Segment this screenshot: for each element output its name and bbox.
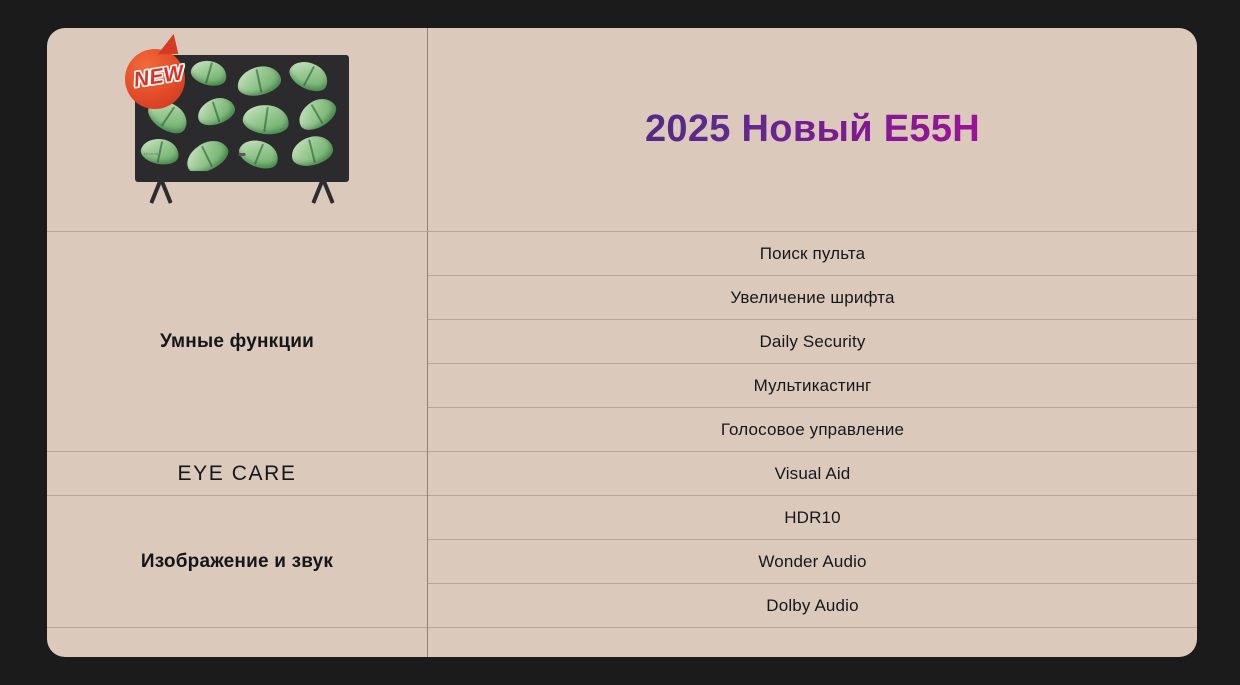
tv-illustration: Hisense NEW	[135, 55, 349, 205]
new-badge: NEW	[119, 41, 197, 115]
feature-column: Поиск пульта Увеличение шрифта Daily Sec…	[428, 232, 1197, 657]
leaf-decor-icon	[235, 62, 284, 99]
feature-row: Мультикастинг	[428, 364, 1197, 408]
feature-row: Daily Security	[428, 320, 1197, 364]
feature-label: Daily Security	[759, 332, 865, 352]
slide-canvas: Hisense NEW 2025 Новый E55H	[0, 0, 1240, 685]
feature-row: Увеличение шрифта	[428, 276, 1197, 320]
product-image-cell: Hisense NEW	[47, 28, 428, 231]
feature-label: Увеличение шрифта	[730, 288, 894, 308]
leaf-decor-icon	[285, 59, 333, 97]
spec-sheet-card: Hisense NEW 2025 Новый E55H	[47, 28, 1197, 657]
feature-label: Мультикастинг	[754, 376, 872, 396]
feature-label: Dolby Audio	[766, 596, 858, 616]
leaf-decor-icon	[241, 101, 291, 136]
tv-leg-icon	[321, 178, 334, 204]
feature-label: Visual Aid	[775, 464, 851, 484]
leaf-decor-icon	[288, 132, 336, 169]
category-column: Умные функции EYE CARE Изображение и зву…	[47, 232, 428, 657]
feature-row: HDR10	[428, 496, 1197, 540]
leaf-decor-icon	[181, 134, 232, 170]
feature-row: Visual Aid	[428, 452, 1197, 496]
feature-label: Поиск пульта	[760, 244, 865, 264]
tv-leg-icon	[159, 178, 172, 204]
category-label: Изображение и звук	[141, 551, 333, 573]
feature-row-empty	[428, 628, 1197, 657]
feature-label: Голосовое управление	[721, 420, 904, 440]
feature-label: HDR10	[784, 508, 841, 528]
tv-brand-mark: Hisense	[144, 151, 161, 156]
feature-row: Поиск пульта	[428, 232, 1197, 276]
card-header: Hisense NEW 2025 Новый E55H	[47, 28, 1197, 232]
product-title-cell: 2025 Новый E55H	[428, 28, 1197, 231]
feature-row: Wonder Audio	[428, 540, 1197, 584]
category-cell-eye-care: EYE CARE	[47, 452, 427, 496]
leaf-decor-icon	[293, 92, 341, 135]
category-cell-empty	[47, 628, 427, 657]
feature-label: Wonder Audio	[758, 552, 866, 572]
category-cell-picture-and-sound: Изображение и звук	[47, 496, 427, 628]
category-label: EYE CARE	[178, 462, 297, 486]
category-label: Умные функции	[160, 331, 314, 353]
spec-table: Умные функции EYE CARE Изображение и зву…	[47, 232, 1197, 657]
leaf-decor-icon	[194, 93, 238, 129]
tv-center-logo-icon	[239, 153, 246, 156]
feature-row: Dolby Audio	[428, 584, 1197, 628]
category-cell-smart-functions: Умные функции	[47, 232, 427, 452]
feature-row: Голосовое управление	[428, 408, 1197, 452]
page-title: 2025 Новый E55H	[645, 108, 980, 151]
